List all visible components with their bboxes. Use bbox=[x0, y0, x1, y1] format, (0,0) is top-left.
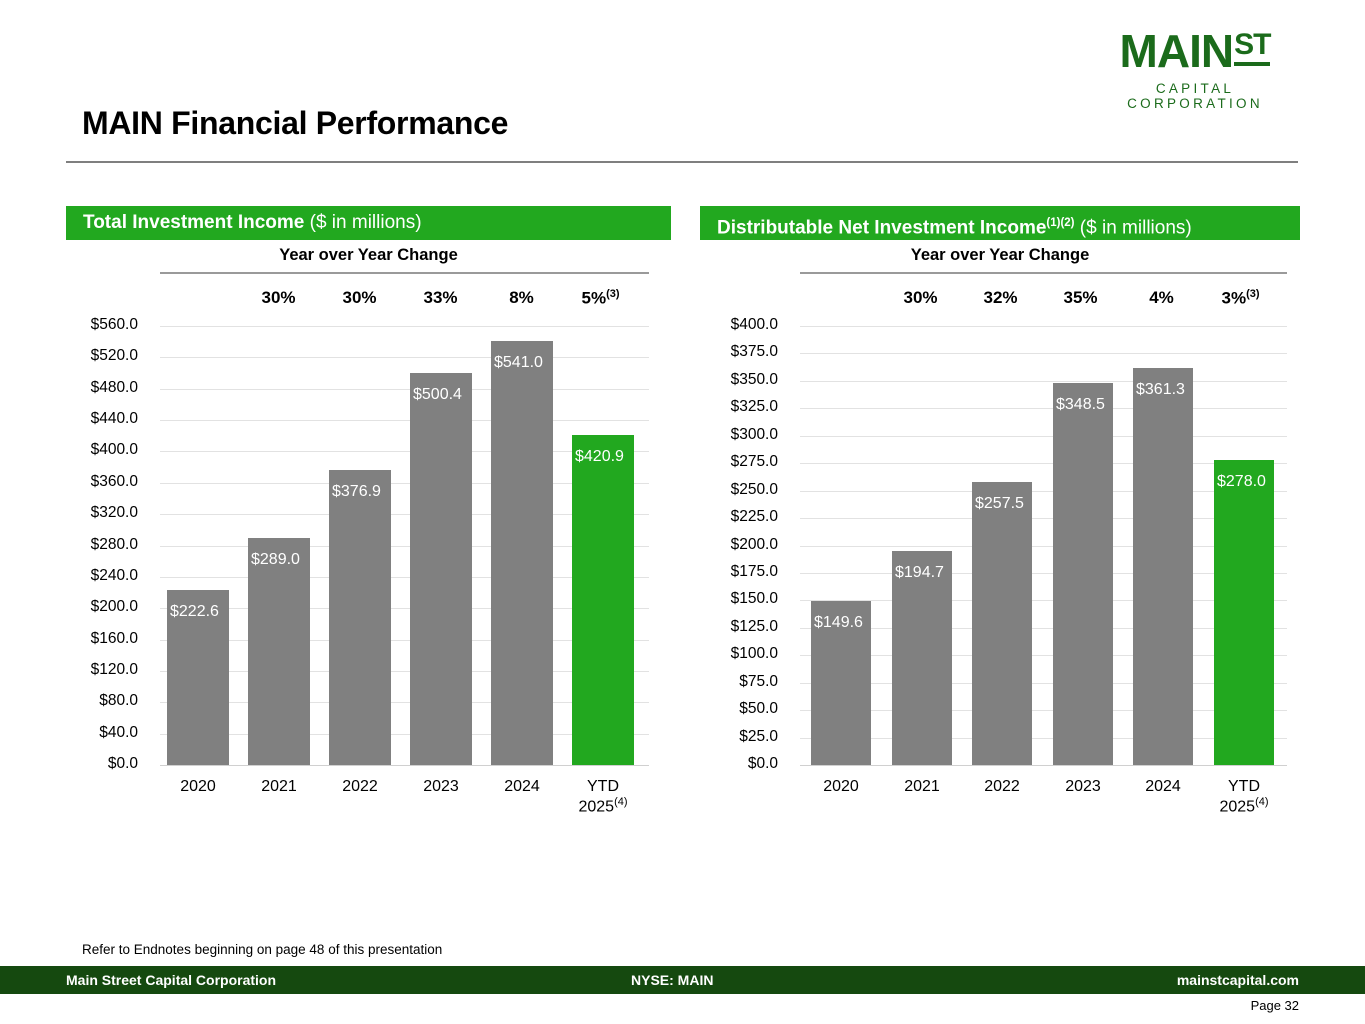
bar-2022[interactable] bbox=[972, 482, 1032, 765]
y-axis-tick-label: $0.0 bbox=[668, 755, 778, 773]
footer-bar: Main Street Capital Corporation NYSE: MA… bbox=[0, 966, 1365, 994]
y-axis-tick-label: $225.0 bbox=[668, 508, 778, 526]
bar-value-label: $278.0 bbox=[1217, 473, 1266, 491]
y-axis-tick-label: $75.0 bbox=[668, 673, 778, 691]
y-axis-tick-label: $375.0 bbox=[668, 343, 778, 361]
footer-company-name: Main Street Capital Corporation bbox=[66, 966, 276, 994]
bar-value-label: $149.6 bbox=[814, 614, 863, 632]
y-axis-tick-label: $300.0 bbox=[668, 426, 778, 444]
y-axis-tick-label: $200.0 bbox=[668, 536, 778, 554]
y-axis-tick-label: $150.0 bbox=[668, 590, 778, 608]
y-axis-tick-label: $25.0 bbox=[668, 728, 778, 746]
bar-2023[interactable] bbox=[1053, 383, 1113, 765]
bar-2024[interactable] bbox=[1133, 368, 1193, 765]
x-axis-tick-label: YTD2025(4) bbox=[1200, 778, 1288, 816]
x-axis-tick-label: 2022 bbox=[958, 778, 1046, 796]
y-axis-tick-label: $250.0 bbox=[668, 481, 778, 499]
chart-baseline bbox=[800, 765, 1287, 766]
bar-2021[interactable] bbox=[892, 551, 952, 765]
bar-ytd-2025[interactable] bbox=[1214, 460, 1274, 765]
slide: MAINST CAPITAL CORPORATION MAIN Financia… bbox=[0, 0, 1365, 1024]
x-axis-tick-label: 2021 bbox=[878, 778, 966, 796]
bar-value-label: $257.5 bbox=[975, 495, 1024, 513]
chart-gridline bbox=[800, 353, 1287, 354]
footer-ticker: NYSE: MAIN bbox=[631, 966, 713, 994]
chart-distributable-nii: $0.0$25.0$50.0$75.0$100.0$125.0$150.0$17… bbox=[0, 0, 1365, 1024]
bar-value-label: $194.7 bbox=[895, 564, 944, 582]
y-axis-tick-label: $275.0 bbox=[668, 453, 778, 471]
y-axis-tick-label: $100.0 bbox=[668, 645, 778, 663]
page-number: Page 32 bbox=[1251, 998, 1299, 1013]
footer-website[interactable]: mainstcapital.com bbox=[1177, 966, 1299, 994]
x-axis-tick-label: 2020 bbox=[797, 778, 885, 796]
y-axis-tick-label: $325.0 bbox=[668, 398, 778, 416]
chart-gridline bbox=[800, 408, 1287, 409]
y-axis-tick-label: $50.0 bbox=[668, 700, 778, 718]
chart-gridline bbox=[800, 326, 1287, 327]
bar-value-label: $361.3 bbox=[1136, 381, 1185, 399]
bar-value-label: $348.5 bbox=[1056, 396, 1105, 414]
x-axis-tick-label: 2023 bbox=[1039, 778, 1127, 796]
y-axis-tick-label: $400.0 bbox=[668, 316, 778, 334]
chart-gridline bbox=[800, 436, 1287, 437]
chart-gridline bbox=[800, 381, 1287, 382]
y-axis-tick-label: $350.0 bbox=[668, 371, 778, 389]
endnote-reference: Refer to Endnotes beginning on page 48 o… bbox=[82, 942, 442, 957]
y-axis-tick-label: $175.0 bbox=[668, 563, 778, 581]
x-axis-tick-label: 2024 bbox=[1119, 778, 1207, 796]
y-axis-tick-label: $125.0 bbox=[668, 618, 778, 636]
